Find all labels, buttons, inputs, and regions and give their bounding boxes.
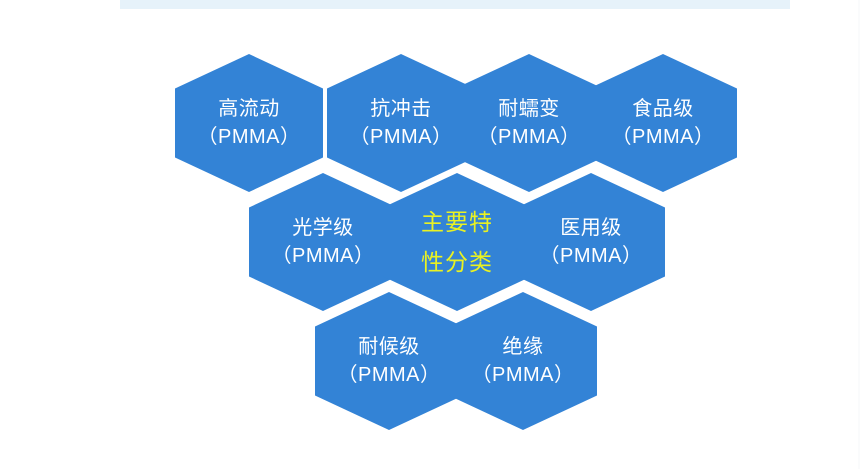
hex-node-weather-resistant[interactable]: 耐候级 （PMMA） — [315, 292, 463, 430]
hex-node-optical-grade-line1: 光学级 — [292, 214, 354, 242]
hex-node-creep-resistant-line1: 耐蠕变 — [498, 95, 560, 123]
hex-node-weather-resistant-line1: 耐候级 — [358, 333, 420, 361]
hex-node-high-flow-line2: （PMMA） — [198, 123, 301, 151]
hex-node-insulation-line2: （PMMA） — [472, 361, 575, 389]
hex-node-impact-resistant-line2: （PMMA） — [350, 123, 453, 151]
hex-node-optical-grade[interactable]: 光学级 （PMMA） — [249, 173, 397, 311]
hex-node-food-grade[interactable]: 食品级 （PMMA） — [589, 54, 737, 192]
hex-node-insulation-line1: 绝缘 — [503, 333, 544, 361]
hex-node-food-grade-line1: 食品级 — [632, 95, 694, 123]
hex-node-weather-resistant-line2: （PMMA） — [338, 361, 441, 389]
hex-node-insulation[interactable]: 绝缘 （PMMA） — [449, 292, 597, 430]
hex-node-main-classification[interactable]: 主要特 性分类 — [383, 173, 531, 311]
hexagon-honeycomb-diagram: 高流动 （PMMA） 抗冲击 （PMMA） 耐蠕变 （PMMA） 食品级 （PM… — [0, 0, 860, 469]
hex-node-main-classification-line2: 性分类 — [421, 242, 493, 282]
hex-node-medical-grade-line2: （PMMA） — [540, 242, 643, 270]
hex-node-main-classification-line1: 主要特 — [421, 202, 493, 242]
hex-node-creep-resistant-line2: （PMMA） — [478, 123, 581, 151]
hex-node-food-grade-line2: （PMMA） — [612, 123, 715, 151]
hex-node-impact-resistant[interactable]: 抗冲击 （PMMA） — [327, 54, 475, 192]
hex-node-creep-resistant[interactable]: 耐蠕变 （PMMA） — [455, 54, 603, 192]
hex-node-high-flow-line1: 高流动 — [218, 95, 280, 123]
hex-node-medical-grade[interactable]: 医用级 （PMMA） — [517, 173, 665, 311]
hex-node-high-flow[interactable]: 高流动 （PMMA） — [175, 54, 323, 192]
hex-node-optical-grade-line2: （PMMA） — [272, 242, 375, 270]
hex-node-impact-resistant-line1: 抗冲击 — [370, 95, 432, 123]
hex-node-medical-grade-line1: 医用级 — [560, 214, 622, 242]
